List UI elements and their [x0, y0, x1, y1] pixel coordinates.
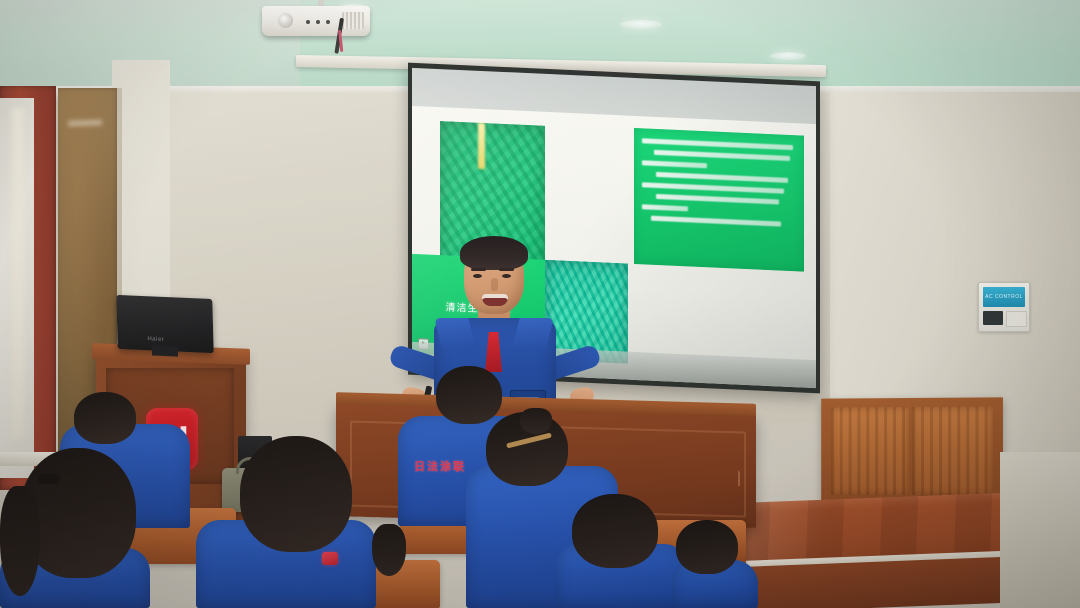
presenter-eye: [502, 274, 511, 278]
column-highlight: [68, 119, 102, 126]
window-glare: [12, 108, 24, 438]
ceiling-downlight: [770, 52, 806, 60]
presenter-eyebrow: [471, 268, 486, 271]
control-panel-keypad[interactable]: [983, 311, 1003, 325]
hair-tie: [38, 474, 60, 484]
ponytail: [372, 524, 406, 576]
cabinet-door-left[interactable]: [831, 407, 909, 495]
attendee-head: [572, 494, 658, 568]
control-panel-switch[interactable]: [1006, 311, 1027, 327]
wall-cabinet[interactable]: [821, 397, 1003, 508]
control-panel-display-text: AC CONTROL: [983, 287, 1025, 307]
attendee-head: [436, 366, 502, 424]
monitor-brand-label: Haier: [147, 336, 164, 343]
wall-control-panel[interactable]: AC CONTROL: [978, 282, 1030, 332]
projector-vent: [342, 12, 364, 29]
uniform-chest-logo: [322, 552, 338, 565]
ponytail: [0, 486, 40, 596]
lecture-hall-photo: 清洁生产措施 ▸ ⚲: [0, 0, 1080, 608]
slide-text-line: [642, 160, 707, 168]
attendee-head: [240, 436, 352, 552]
projector-button[interactable]: [306, 20, 310, 24]
presenter-collar-left: [434, 318, 475, 348]
hair-bun: [520, 408, 552, 434]
projector-button[interactable]: [316, 20, 320, 24]
ceiling-downlight: [620, 20, 662, 29]
projector-button[interactable]: [326, 20, 330, 24]
slide-text-line: [656, 172, 788, 183]
desktop-monitor[interactable]: Haier: [116, 295, 213, 353]
attendee-head: [676, 520, 738, 574]
presenter-eyebrow: [499, 268, 514, 271]
slide-text-line: [651, 216, 780, 227]
projector-lens-icon: [278, 13, 293, 28]
monitor-stand: [152, 345, 178, 356]
room-floor: [1000, 452, 1080, 608]
presenter-nose: [491, 278, 498, 291]
cabinet-door-right[interactable]: [912, 407, 993, 496]
slide-text-line: [656, 194, 779, 205]
attendee-head: [74, 392, 136, 444]
presenter-hair: [460, 236, 528, 270]
uniform-back-text: 日法涂联: [414, 458, 466, 474]
presenter-mouth: [482, 294, 508, 306]
slide-text-line: [654, 150, 790, 161]
control-panel-display: AC CONTROL: [983, 287, 1025, 307]
slide-text-block: [634, 128, 804, 272]
slide-text-line: [642, 138, 793, 150]
ceiling-projector: [262, 6, 370, 36]
slide-text-line: [642, 182, 784, 193]
slide-text-line: [642, 204, 688, 211]
presenter-eye: [473, 274, 482, 278]
